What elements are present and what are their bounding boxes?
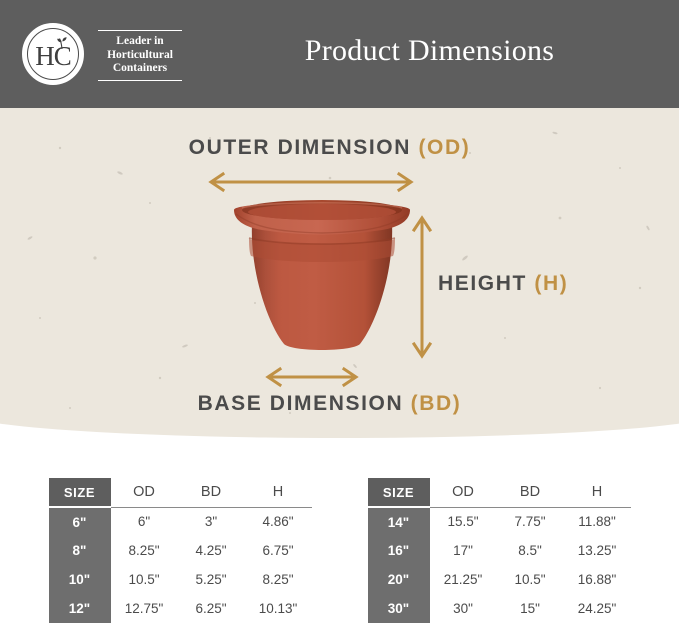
cell-size: 8" (49, 536, 111, 565)
plant-pot-illustration (222, 194, 422, 366)
cell-h: 16.88" (564, 565, 631, 594)
table-row: 16"17"8.5"13.25" (368, 536, 631, 565)
cell-size: 14" (368, 507, 430, 536)
base-dimension-arrow-icon (262, 366, 362, 388)
cell-h: 11.88" (564, 507, 631, 536)
outer-dimension-abbr: (OD) (418, 136, 470, 159)
diagram-panel: OUTER DIMENSION (OD) (0, 108, 679, 438)
height-label: HEIGHT (H) (438, 272, 568, 296)
cell-od: 10.5" (111, 565, 178, 594)
table-row: 10"10.5"5.25"8.25" (49, 565, 312, 594)
height-text: HEIGHT (438, 272, 527, 295)
table-header-row: SIZEODBDH (49, 478, 312, 507)
cell-bd: 4.25" (178, 536, 245, 565)
cell-od: 6" (111, 507, 178, 536)
cell-h: 4.86" (245, 507, 312, 536)
cell-size: 10" (49, 565, 111, 594)
cell-bd: 3" (178, 507, 245, 536)
cell-od: 15.5" (430, 507, 497, 536)
page-header: HC Leader in Horticultural Containers Pr… (0, 0, 679, 108)
cell-h: 8.25" (245, 565, 312, 594)
table-row: 8"8.25"4.25"6.75" (49, 536, 312, 565)
table-header-row: SIZEODBDH (368, 478, 631, 507)
cell-bd: 10.5" (497, 565, 564, 594)
dimension-table-small: SIZEODBDH 6"6"3"4.86"8"8.25"4.25"6.75"10… (49, 478, 312, 623)
cell-od: 12.75" (111, 594, 178, 623)
cell-h: 24.25" (564, 594, 631, 623)
cell-size: 16" (368, 536, 430, 565)
column-header-h: H (245, 478, 312, 507)
column-header-od: OD (111, 478, 178, 507)
tagline-rule-top (98, 30, 182, 31)
cell-h: 6.75" (245, 536, 312, 565)
outer-dimension-text: OUTER DIMENSION (189, 136, 411, 159)
cell-od: 8.25" (111, 536, 178, 565)
cell-bd: 6.25" (178, 594, 245, 623)
column-header-od: OD (430, 478, 497, 507)
cell-od: 17" (430, 536, 497, 565)
cell-h: 10.13" (245, 594, 312, 623)
cell-od: 30" (430, 594, 497, 623)
dimension-tables: SIZEODBDH 6"6"3"4.86"8"8.25"4.25"6.75"10… (0, 478, 679, 623)
height-abbr: (H) (534, 272, 568, 295)
outer-dimension-arrow-icon (205, 171, 417, 193)
cell-bd: 15" (497, 594, 564, 623)
height-arrow-icon (410, 213, 434, 361)
tagline-rule-bottom (98, 80, 182, 81)
dimension-table-large: SIZEODBDH 14"15.5"7.75"11.88"16"17"8.5"1… (368, 478, 631, 623)
cell-bd: 8.5" (497, 536, 564, 565)
cell-size: 12" (49, 594, 111, 623)
table-body: 6"6"3"4.86"8"8.25"4.25"6.75"10"10.5"5.25… (49, 507, 312, 623)
table-row: 14"15.5"7.75"11.88" (368, 507, 631, 536)
cell-size: 20" (368, 565, 430, 594)
cell-size: 30" (368, 594, 430, 623)
column-header-h: H (564, 478, 631, 507)
column-header-size: SIZE (368, 478, 430, 507)
cell-bd: 5.25" (178, 565, 245, 594)
cell-h: 13.25" (564, 536, 631, 565)
sprout-icon (53, 36, 71, 49)
outer-dimension-label: OUTER DIMENSION (OD) (0, 136, 679, 160)
cell-od: 21.25" (430, 565, 497, 594)
table-row: 20"21.25"10.5"16.88" (368, 565, 631, 594)
cell-bd: 7.75" (497, 507, 564, 536)
page-title: Product Dimensions (0, 34, 679, 68)
column-header-size: SIZE (49, 478, 111, 507)
table-row: 30"30"15"24.25" (368, 594, 631, 623)
table-row: 12"12.75"6.25"10.13" (49, 594, 312, 623)
base-dimension-abbr: (BD) (411, 392, 462, 415)
base-dimension-label: BASE DIMENSION (BD) (0, 392, 679, 416)
column-header-bd: BD (178, 478, 245, 507)
table-body: 14"15.5"7.75"11.88"16"17"8.5"13.25"20"21… (368, 507, 631, 623)
base-dimension-text: BASE DIMENSION (198, 392, 404, 415)
column-header-bd: BD (497, 478, 564, 507)
table-row: 6"6"3"4.86" (49, 507, 312, 536)
cell-size: 6" (49, 507, 111, 536)
